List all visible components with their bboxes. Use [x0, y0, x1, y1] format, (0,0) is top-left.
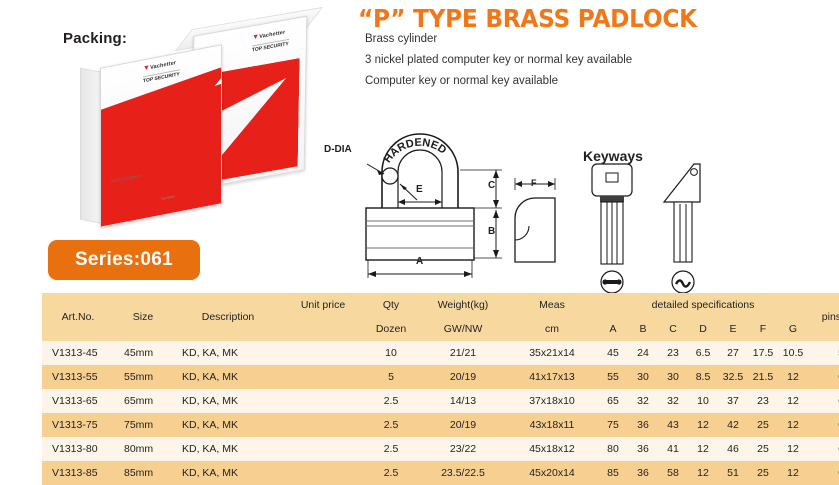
- f-dim-label: F: [531, 178, 537, 188]
- c-dim-label: C: [488, 180, 495, 191]
- cell-weight: 20/19: [420, 365, 506, 389]
- cell-c: 23: [658, 341, 688, 365]
- back-box-tagline: TOP SECURITY: [252, 39, 289, 54]
- header-dim-d: D: [688, 317, 718, 341]
- cell-b: 30: [628, 365, 658, 389]
- cell-size: 45mm: [114, 341, 172, 365]
- computer-key-svg: [578, 158, 648, 298]
- cell-d: 12: [688, 461, 718, 485]
- cell-unit-price: [284, 461, 362, 485]
- cell-f: 21.5: [748, 365, 778, 389]
- cell-weight: 20/19: [420, 413, 506, 437]
- cell-meas: 43x18x11: [506, 413, 598, 437]
- cell-unit-price: [284, 389, 362, 413]
- header-dim-b: B: [628, 317, 658, 341]
- page-title: “P” TYPE BRASS PADLOCK: [358, 4, 697, 33]
- header-dim-f: F: [748, 317, 778, 341]
- cell-weight: 23.5/22.5: [420, 461, 506, 485]
- cell-size: 80mm: [114, 437, 172, 461]
- e-dim-label: E: [416, 184, 423, 195]
- cell-f: 25: [748, 461, 778, 485]
- cell-b: 24: [628, 341, 658, 365]
- cell-e: 51: [718, 461, 748, 485]
- cell-f: 17.5: [748, 341, 778, 365]
- series-badge: Series:061: [48, 240, 200, 280]
- cell-description: KD, KA, MK: [172, 365, 284, 389]
- product-packaging-photo: ▼Vachetter TOP SECURITY ▼Vachetter TOP S…: [40, 8, 330, 238]
- technical-drawing-area: HARDENED: [320, 128, 839, 288]
- cell-g: 12: [778, 461, 808, 485]
- cell-pins: 6: [808, 461, 839, 485]
- cell-unit-price: [284, 413, 362, 437]
- cell-size: 75mm: [114, 413, 172, 437]
- cell-description: KD, KA, MK: [172, 389, 284, 413]
- table-row: V1313-8585mmKD, KA, MK2.523.5/22.545x20x…: [42, 461, 839, 485]
- cell-size: 55mm: [114, 365, 172, 389]
- cell-c: 43: [658, 413, 688, 437]
- cell-size: 85mm: [114, 461, 172, 485]
- d-dia-label: D-DIA: [324, 144, 352, 155]
- cell-size: 65mm: [114, 389, 172, 413]
- cell-d: 12: [688, 437, 718, 461]
- header-dim-g: G: [778, 317, 808, 341]
- table-row: V1313-8080mmKD, KA, MK2.523/2245x18x1280…: [42, 437, 839, 461]
- cell-d: 6.5: [688, 341, 718, 365]
- padlock-side-profile-svg: [503, 170, 573, 280]
- cell-meas: 41x17x13: [506, 365, 598, 389]
- cell-qty: 2.5: [362, 437, 420, 461]
- cell-e: 46: [718, 437, 748, 461]
- cell-weight: 14/13: [420, 389, 506, 413]
- cell-art-no: V1313-85: [42, 461, 114, 485]
- cell-meas: 45x18x12: [506, 437, 598, 461]
- cell-art-no: V1313-80: [42, 437, 114, 461]
- specifications-table: Art.No. Size Description Unit price Qty …: [42, 293, 839, 485]
- cell-g: 12: [778, 437, 808, 461]
- table-row: V1313-7575mmKD, KA, MK2.520/1943x18x1175…: [42, 413, 839, 437]
- cell-qty: 2.5: [362, 461, 420, 485]
- cell-g: 12: [778, 365, 808, 389]
- cell-weight: 23/22: [420, 437, 506, 461]
- cell-e: 27: [718, 341, 748, 365]
- cell-meas: 35x21x14: [506, 341, 598, 365]
- front-box: ▼Vachetter TOP SECURITY Ref:1313-45mm Va…: [100, 44, 222, 228]
- cell-e: 32.5: [718, 365, 748, 389]
- cell-e: 42: [718, 413, 748, 437]
- cell-a: 85: [598, 461, 628, 485]
- cell-qty: 2.5: [362, 389, 420, 413]
- feature-line-1: Brass cylinder: [365, 33, 437, 45]
- cell-pins: 6: [808, 365, 839, 389]
- cell-art-no: V1313-65: [42, 389, 114, 413]
- cell-b: 36: [628, 437, 658, 461]
- header-description: Description: [172, 293, 284, 341]
- cell-f: 23: [748, 389, 778, 413]
- header-dim-c: C: [658, 317, 688, 341]
- cell-art-no: V1313-45: [42, 341, 114, 365]
- cell-pins: 5: [808, 341, 839, 365]
- cell-c: 58: [658, 461, 688, 485]
- header-detailed-specifications: detailed specifications: [598, 293, 808, 317]
- cell-c: 32: [658, 389, 688, 413]
- cell-art-no: V1313-55: [42, 365, 114, 389]
- cell-f: 25: [748, 413, 778, 437]
- cell-pins: 6: [808, 413, 839, 437]
- cell-c: 30: [658, 365, 688, 389]
- feature-line-3: Computer key or normal key available: [365, 75, 558, 87]
- cell-a: 45: [598, 341, 628, 365]
- header-meas-sub: cm: [506, 317, 598, 341]
- cell-a: 55: [598, 365, 628, 389]
- cell-meas: 37x18x10: [506, 389, 598, 413]
- cell-a: 80: [598, 437, 628, 461]
- b-dim-label: B: [488, 226, 495, 237]
- table-row: V1313-4545mmKD, KA, MK1021/2135x21x14452…: [42, 341, 839, 365]
- front-box-tagline: TOP SECURITY: [143, 69, 180, 84]
- cell-b: 36: [628, 413, 658, 437]
- cell-qty: 10: [362, 341, 420, 365]
- cell-d: 10: [688, 389, 718, 413]
- cell-pins: 6: [808, 437, 839, 461]
- cell-c: 41: [658, 437, 688, 461]
- cell-g: 10.5: [778, 341, 808, 365]
- cell-d: 12: [688, 413, 718, 437]
- table-body: V1313-4545mmKD, KA, MK1021/2135x21x14452…: [42, 341, 839, 485]
- cell-b: 32: [628, 389, 658, 413]
- cell-g: 12: [778, 413, 808, 437]
- cell-e: 37: [718, 389, 748, 413]
- header-pins-no: pins No.: [808, 293, 839, 341]
- cell-pins: 6: [808, 389, 839, 413]
- a-dim-label: A: [416, 256, 423, 267]
- normal-key-svg: [650, 158, 720, 298]
- cell-weight: 21/21: [420, 341, 506, 365]
- cell-art-no: V1313-75: [42, 413, 114, 437]
- header-dim-e: E: [718, 317, 748, 341]
- cell-unit-price: [284, 437, 362, 461]
- cell-f: 25: [748, 437, 778, 461]
- header-dim-a: A: [598, 317, 628, 341]
- table-header-top-row: Art.No. Size Description Unit price Qty …: [42, 293, 839, 317]
- table-row: V1313-5555mmKD, KA, MK520/1941x17x135530…: [42, 365, 839, 389]
- cell-meas: 45x20x14: [506, 461, 598, 485]
- header-unit-price-sub: [284, 317, 362, 341]
- header-unit-price: Unit price: [284, 293, 362, 317]
- cell-qty: 5: [362, 365, 420, 389]
- cell-qty: 2.5: [362, 413, 420, 437]
- series-badge-label: Series:061: [75, 249, 173, 271]
- header-qty: Qty: [362, 293, 420, 317]
- cell-a: 65: [598, 389, 628, 413]
- cell-unit-price: [284, 365, 362, 389]
- cell-d: 8.5: [688, 365, 718, 389]
- header-qty-sub: Dozen: [362, 317, 420, 341]
- header-meas: Meas: [506, 293, 598, 317]
- cell-description: KD, KA, MK: [172, 461, 284, 485]
- product-spec-sheet: Packing: ▼Vachetter TOP SECURITY ▼Vachet…: [0, 0, 839, 456]
- cell-unit-price: [284, 341, 362, 365]
- header-weight: Weight(kg): [420, 293, 506, 317]
- cell-description: KD, KA, MK: [172, 413, 284, 437]
- cell-description: KD, KA, MK: [172, 437, 284, 461]
- header-weight-sub: GW/NW: [420, 317, 506, 341]
- cell-g: 12: [778, 389, 808, 413]
- cell-description: KD, KA, MK: [172, 341, 284, 365]
- cell-b: 36: [628, 461, 658, 485]
- cell-a: 75: [598, 413, 628, 437]
- feature-line-2: 3 nickel plated computer key or normal k…: [365, 54, 632, 66]
- table-row: V1313-6565mmKD, KA, MK2.514/1337x18x1065…: [42, 389, 839, 413]
- header-size: Size: [114, 293, 172, 341]
- header-art-no: Art.No.: [42, 293, 114, 341]
